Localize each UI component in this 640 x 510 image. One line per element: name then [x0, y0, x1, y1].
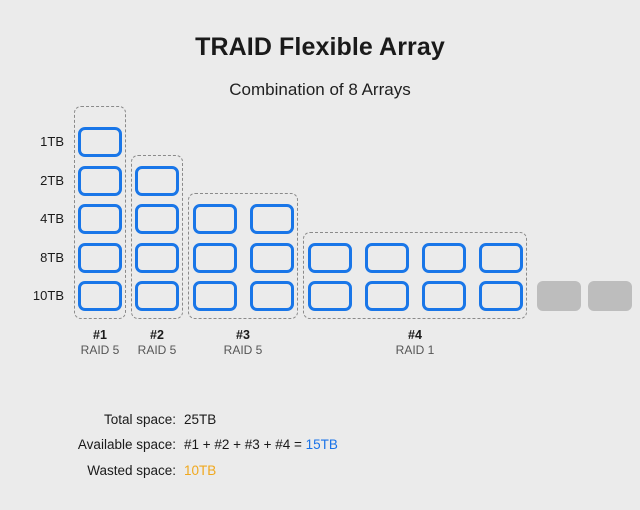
array-group-id: #4: [303, 328, 527, 343]
axis-tick-label: 1TB: [8, 135, 64, 149]
array-group-caption: #3RAID 5: [188, 328, 298, 358]
summary-value-part: 15TB: [306, 437, 338, 452]
disk[interactable]: [78, 127, 122, 157]
disk[interactable]: [135, 281, 179, 311]
disk[interactable]: [78, 204, 122, 234]
summary-row-label: Total space:: [36, 412, 176, 428]
disk[interactable]: [479, 243, 523, 273]
disk[interactable]: [308, 281, 352, 311]
summary-row-value: 10TB: [184, 463, 216, 479]
summary-value-part: 25TB: [184, 412, 216, 427]
disk[interactable]: [250, 243, 294, 273]
array-group-raid-level: RAID 5: [74, 343, 126, 358]
axis-tick-label: 10TB: [8, 289, 64, 303]
disk[interactable]: [135, 243, 179, 273]
summary-value-part: #1 + #2 + #3 + #4 =: [184, 437, 306, 452]
axis-tick-label: 4TB: [8, 212, 64, 226]
array-group-id: #2: [131, 328, 183, 343]
disk[interactable]: [422, 243, 466, 273]
disk[interactable]: [193, 281, 237, 311]
disk[interactable]: [422, 281, 466, 311]
array-group-caption: #4RAID 1: [303, 328, 527, 358]
array-group-caption: #2RAID 5: [131, 328, 183, 358]
array-group-raid-level: RAID 5: [131, 343, 183, 358]
unused-disk[interactable]: [537, 281, 581, 311]
disk[interactable]: [250, 204, 294, 234]
disk[interactable]: [78, 243, 122, 273]
summary-row-value: 25TB: [184, 412, 216, 428]
array-group-caption: #1RAID 5: [74, 328, 126, 358]
disk[interactable]: [250, 281, 294, 311]
disk[interactable]: [135, 166, 179, 196]
array-group-id: #3: [188, 328, 298, 343]
page-title: TRAID Flexible Array: [0, 33, 640, 62]
summary-value-part: 10TB: [184, 463, 216, 478]
summary-row-value: #1 + #2 + #3 + #4 = 15TB: [184, 437, 338, 453]
page-subtitle: Combination of 8 Arrays: [0, 80, 640, 100]
disk[interactable]: [78, 281, 122, 311]
disk[interactable]: [479, 281, 523, 311]
traid-diagram-canvas: TRAID Flexible Array Combination of 8 Ar…: [0, 0, 640, 510]
disk[interactable]: [365, 281, 409, 311]
disk[interactable]: [193, 204, 237, 234]
unused-disk[interactable]: [588, 281, 632, 311]
axis-tick-label: 2TB: [8, 174, 64, 188]
summary-row-label: Wasted space:: [36, 463, 176, 479]
axis-tick-label: 8TB: [8, 251, 64, 265]
disk[interactable]: [78, 166, 122, 196]
disk[interactable]: [365, 243, 409, 273]
disk[interactable]: [135, 204, 179, 234]
summary-row-label: Available space:: [36, 437, 176, 453]
array-group-raid-level: RAID 1: [303, 343, 527, 358]
array-group-raid-level: RAID 5: [188, 343, 298, 358]
disk[interactable]: [193, 243, 237, 273]
disk[interactable]: [308, 243, 352, 273]
array-group-id: #1: [74, 328, 126, 343]
